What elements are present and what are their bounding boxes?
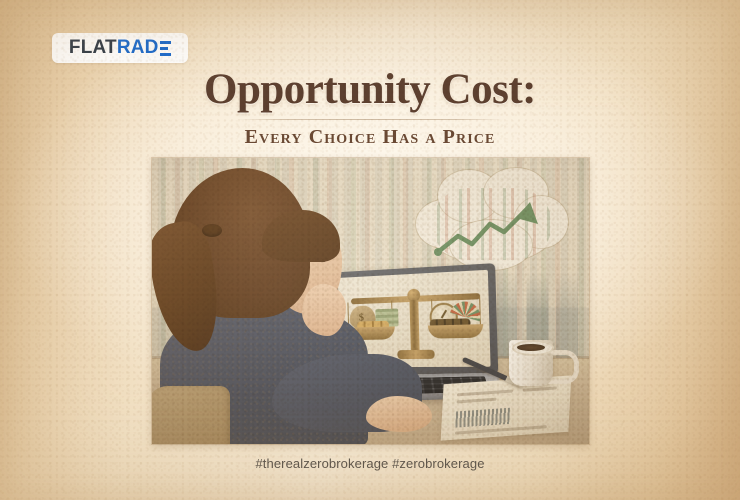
thought-bubble bbox=[410, 166, 572, 278]
document-bar-chart bbox=[455, 408, 510, 428]
page-subtitle: Every Choice Has a Price bbox=[0, 126, 740, 149]
flattrade-logo[interactable]: FLATRAD bbox=[52, 33, 188, 63]
scales-column bbox=[409, 300, 419, 352]
scales-pan-right bbox=[428, 324, 484, 339]
rising-arrow-icon bbox=[434, 196, 554, 266]
hair-tie bbox=[202, 224, 222, 237]
coffee-liquid bbox=[517, 344, 545, 351]
scales-base bbox=[397, 350, 434, 359]
logo-text-flat: FLAT bbox=[69, 37, 117, 59]
logo-e-bars-icon bbox=[160, 41, 171, 56]
logo-text-trade: RAD bbox=[117, 37, 159, 59]
person-hand-on-laptop bbox=[366, 396, 432, 432]
logo-wordmark: FLATRAD bbox=[69, 37, 171, 59]
hero-illustration: $ bbox=[152, 158, 589, 444]
office-chair bbox=[152, 386, 230, 444]
document-sheet bbox=[441, 375, 572, 440]
person-hand-on-chin bbox=[302, 284, 346, 336]
page-title: Opportunity Cost: bbox=[0, 68, 740, 111]
poster-canvas: FLATRAD Opportunity Cost: Every Choice H… bbox=[0, 0, 740, 500]
title-divider bbox=[236, 119, 504, 120]
mug-handle bbox=[548, 350, 579, 384]
footer-hashtags: #therealzerobrokerage #zerobrokerage bbox=[0, 456, 740, 471]
